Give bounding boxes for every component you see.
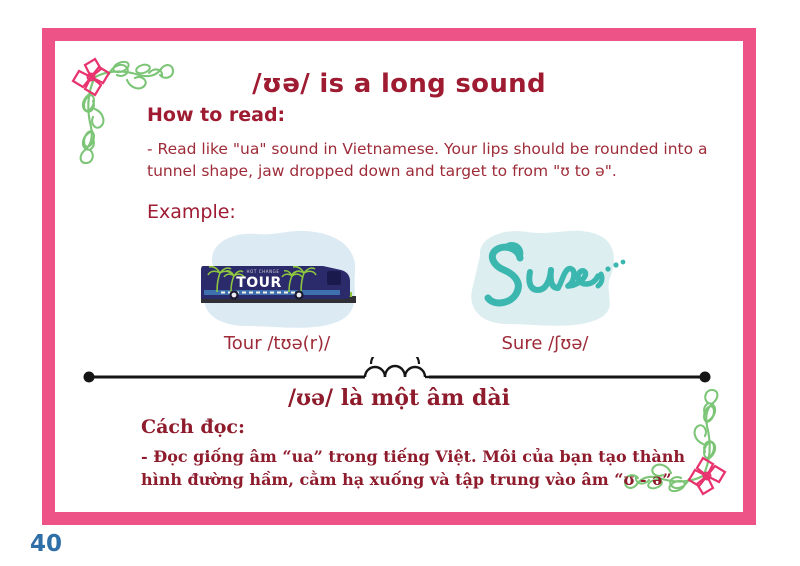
english-title: /ʊə/ is a long sound — [55, 69, 743, 99]
cach-doc-body: - Đọc giống âm “ua” trong tiếng Việt. Mô… — [141, 445, 721, 491]
example-label: Example: — [147, 201, 236, 223]
caption-tour: Tour /tʊə(r)/ — [167, 333, 387, 354]
example-image-tour: HOT CHANGE TOUR — [185, 226, 375, 334]
example-image-sure — [450, 226, 640, 334]
coil-arch-motif — [365, 357, 429, 377]
page-number: 40 — [30, 531, 62, 557]
cach-doc-label: Cách đọc: — [141, 416, 245, 438]
section-divider — [83, 357, 711, 383]
examples-row: HOT CHANGE TOUR — [55, 226, 743, 336]
slide-content-area: /ʊə/ is a long sound How to read: - Read… — [55, 41, 743, 512]
slide-frame: /ʊə/ is a long sound How to read: - Read… — [42, 28, 756, 525]
bus-top-text: HOT CHANGE — [246, 269, 279, 274]
how-to-read-label: How to read: — [147, 104, 285, 126]
how-to-read-body: - Read like "ua" sound in Vietnamese. Yo… — [147, 138, 722, 182]
caption-sure: Sure /ʃʊə/ — [435, 333, 655, 354]
bus-main-text: TOUR — [236, 275, 282, 291]
tour-bus-icon: HOT CHANGE TOUR — [201, 260, 356, 306]
vietnamese-title: /ʊə/ là một âm dài — [55, 385, 743, 411]
sure-script-lettering — [468, 236, 628, 322]
